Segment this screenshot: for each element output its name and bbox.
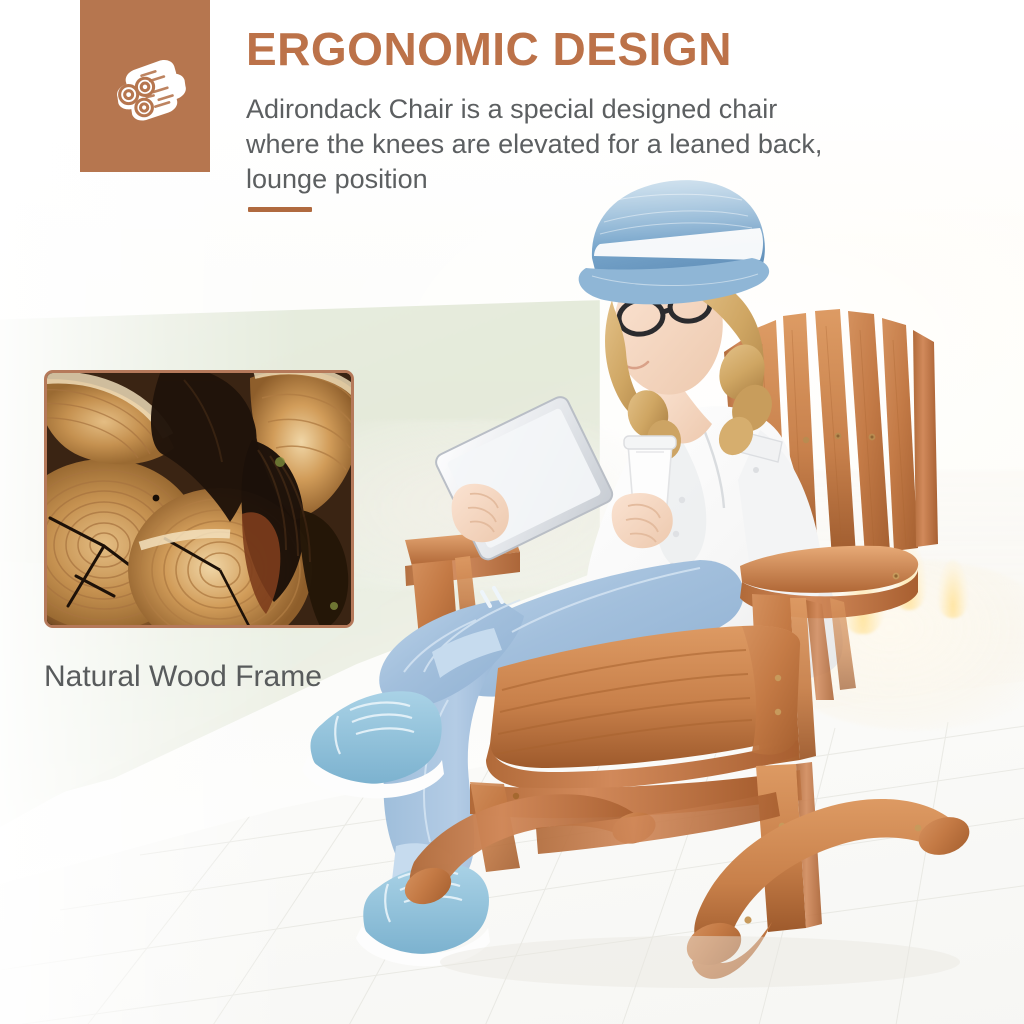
log-stack-icon-box: [80, 0, 210, 172]
inset-caption: Natural Wood Frame: [44, 660, 464, 694]
description-line: Adirondack Chair is a special designed c…: [246, 92, 926, 127]
banner-root: ERGONOMIC DESIGN Adirondack Chair is a s…: [0, 0, 1024, 1024]
description-line: lounge position: [246, 162, 926, 197]
shoe-upper: [302, 691, 444, 798]
log-stack-icon: [102, 43, 188, 129]
page-description: Adirondack Chair is a special designed c…: [246, 92, 926, 197]
wood-texture-photo: [44, 370, 354, 628]
page-title: ERGONOMIC DESIGN: [246, 26, 946, 74]
fedora-hat: [579, 180, 769, 304]
wood-rings: [44, 370, 354, 628]
chair-shadow: [440, 936, 960, 988]
accent-underline: [248, 207, 312, 212]
description-line: where the knees are elevated for a leane…: [246, 127, 926, 162]
